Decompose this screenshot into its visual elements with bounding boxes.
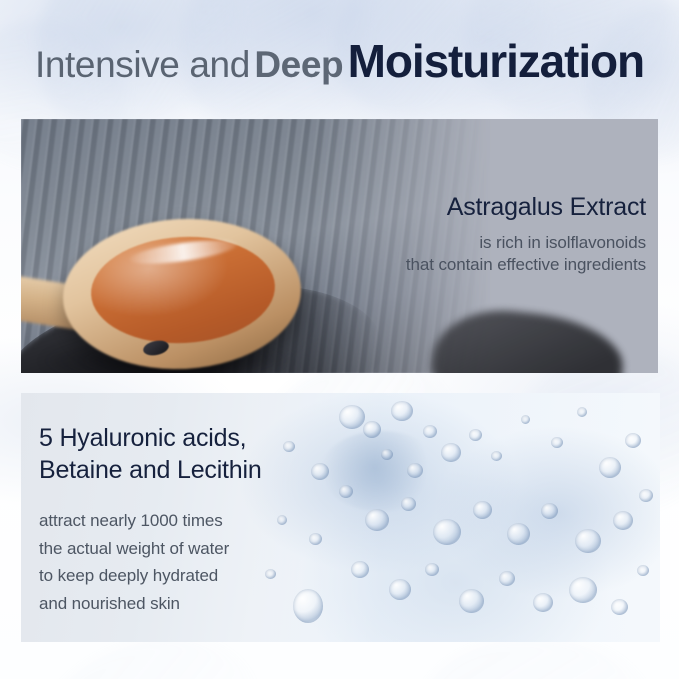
water-droplet: [639, 489, 653, 502]
page-title: Intensive and Deep Moisturization: [0, 38, 679, 84]
astragalus-text-block: Astragalus Extract is rich in isolflavon…: [406, 191, 646, 276]
hyaluronic-panel: 5 Hyaluronic acids, Betaine and Lecithin…: [21, 393, 660, 642]
hyaluronic-title-line-1: 5 Hyaluronic acids,: [39, 423, 262, 455]
water-droplet: [293, 589, 323, 623]
water-droplet: [459, 589, 484, 613]
water-droplet: [365, 509, 389, 531]
water-droplet: [265, 569, 276, 579]
hyaluronic-body-line-4: and nourished skin: [39, 590, 262, 618]
hyaluronic-body: attract nearly 1000 times the actual wei…: [39, 507, 262, 617]
hyaluronic-body-line-2: the actual weight of water: [39, 535, 262, 563]
water-droplet: [637, 565, 649, 576]
water-droplet: [283, 441, 295, 452]
product-detail-page: Intensive and Deep Moisturization Astrag…: [0, 0, 679, 679]
water-droplet: [613, 511, 633, 530]
water-droplet: [311, 463, 329, 480]
astragalus-body-line-2: that contain effective ingredients: [406, 254, 646, 276]
astragalus-title: Astragalus Extract: [406, 191, 646, 223]
water-droplet: [339, 405, 365, 429]
water-droplet: [541, 503, 558, 519]
water-droplet: [423, 425, 437, 438]
water-droplet: [551, 437, 563, 448]
water-droplet: [407, 463, 423, 478]
page-title-part-light: Intensive and: [35, 44, 250, 85]
water-droplet: [277, 515, 287, 525]
water-droplet: [625, 433, 641, 448]
water-droplet: [339, 485, 353, 498]
hyaluronic-text-block: 5 Hyaluronic acids, Betaine and Lecithin…: [39, 423, 262, 617]
page-title-part-strong: Moisturization: [348, 35, 644, 87]
astragalus-panel: Astragalus Extract is rich in isolflavon…: [21, 119, 658, 373]
water-droplet: [491, 451, 502, 461]
water-droplet: [575, 529, 601, 553]
water-droplet: [309, 533, 322, 545]
water-droplet: [433, 519, 461, 545]
page-title-part-mid: Deep: [254, 44, 343, 85]
hyaluronic-title-line-2: Betaine and Lecithin: [39, 455, 262, 487]
water-droplet: [521, 415, 530, 424]
water-droplet: [473, 501, 492, 519]
water-droplet: [611, 599, 628, 615]
hyaluronic-body-line-3: to keep deeply hydrated: [39, 562, 262, 590]
water-droplet: [425, 563, 439, 576]
water-droplet: [599, 457, 621, 478]
hyaluronic-body-line-1: attract nearly 1000 times: [39, 507, 262, 535]
water-droplet: [391, 401, 413, 421]
water-droplet: [577, 407, 587, 417]
water-droplet: [351, 561, 369, 578]
water-droplet: [533, 593, 553, 612]
water-droplet: [469, 429, 482, 441]
water-droplet: [441, 443, 461, 462]
water-droplet: [401, 497, 416, 511]
water-droplet: [389, 579, 411, 600]
astragalus-body-line-1: is rich in isolflavonoids: [406, 232, 646, 254]
water-droplet: [507, 523, 530, 545]
water-droplet: [363, 421, 381, 438]
water-droplet: [569, 577, 597, 603]
water-splash-core: [321, 431, 441, 511]
water-droplet: [499, 571, 515, 586]
water-droplet: [381, 449, 393, 460]
